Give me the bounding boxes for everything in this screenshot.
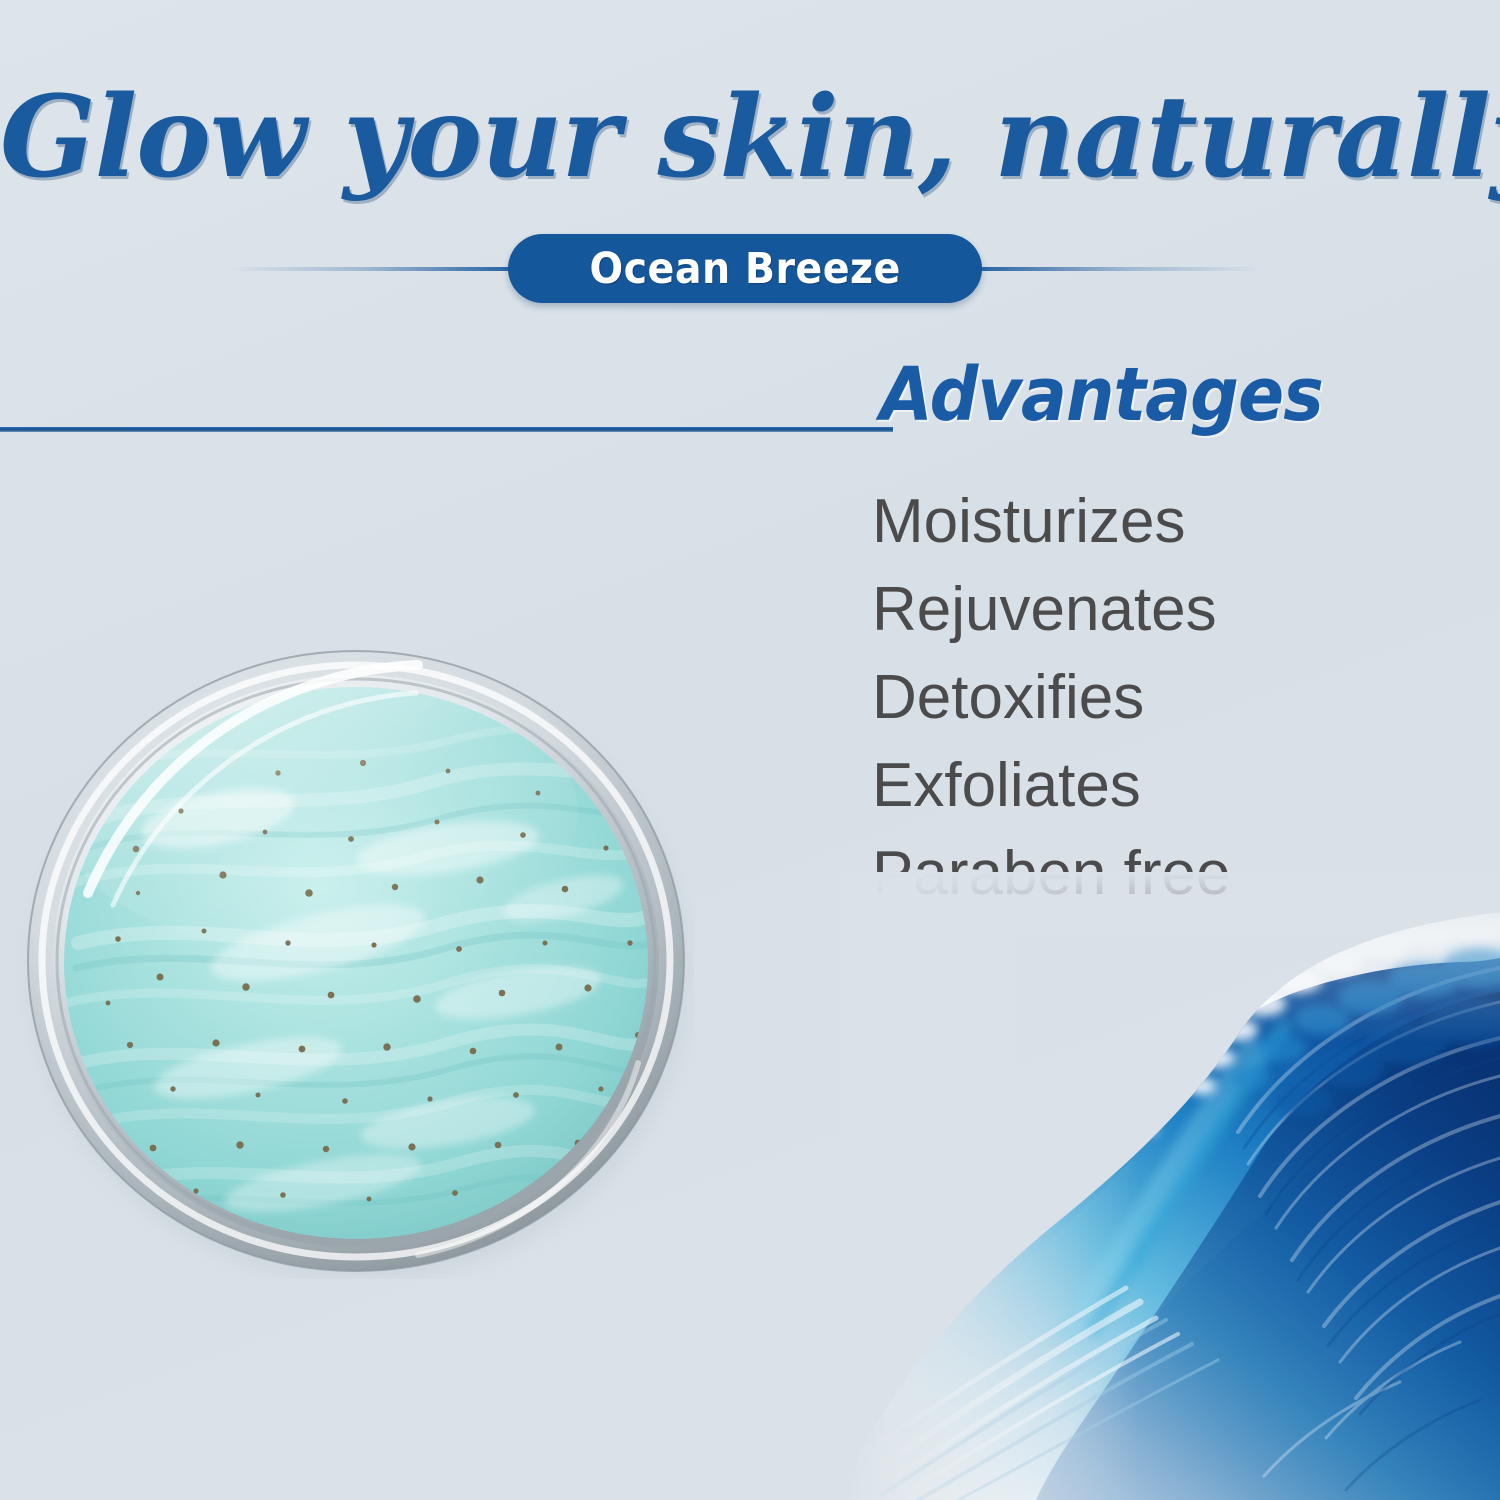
list-item: Exfoliates bbox=[872, 742, 1230, 830]
variant-badge-row: Ocean Breeze bbox=[0, 234, 1500, 304]
variant-badge-label: Ocean Breeze bbox=[589, 244, 900, 294]
product-infographic: Glow your skin, naturally Ocean Breeze A… bbox=[0, 0, 1500, 1500]
page-title: Glow your skin, naturally bbox=[0, 78, 1500, 199]
advantages-heading: Advantages bbox=[880, 352, 1323, 438]
variant-badge: Ocean Breeze bbox=[508, 234, 982, 303]
advantages-list: Moisturizes Rejuvenates Detoxifies Exfol… bbox=[872, 478, 1230, 918]
ocean-wave-image bbox=[840, 872, 1500, 1500]
list-item: Moisturizes bbox=[872, 478, 1230, 566]
list-item: Rejuvenates bbox=[872, 566, 1230, 654]
list-item: Detoxifies bbox=[872, 654, 1230, 742]
badge-rule-left bbox=[228, 267, 528, 271]
section-divider bbox=[0, 427, 893, 432]
badge-rule-right bbox=[962, 267, 1262, 271]
product-jar-image bbox=[18, 643, 694, 1279]
